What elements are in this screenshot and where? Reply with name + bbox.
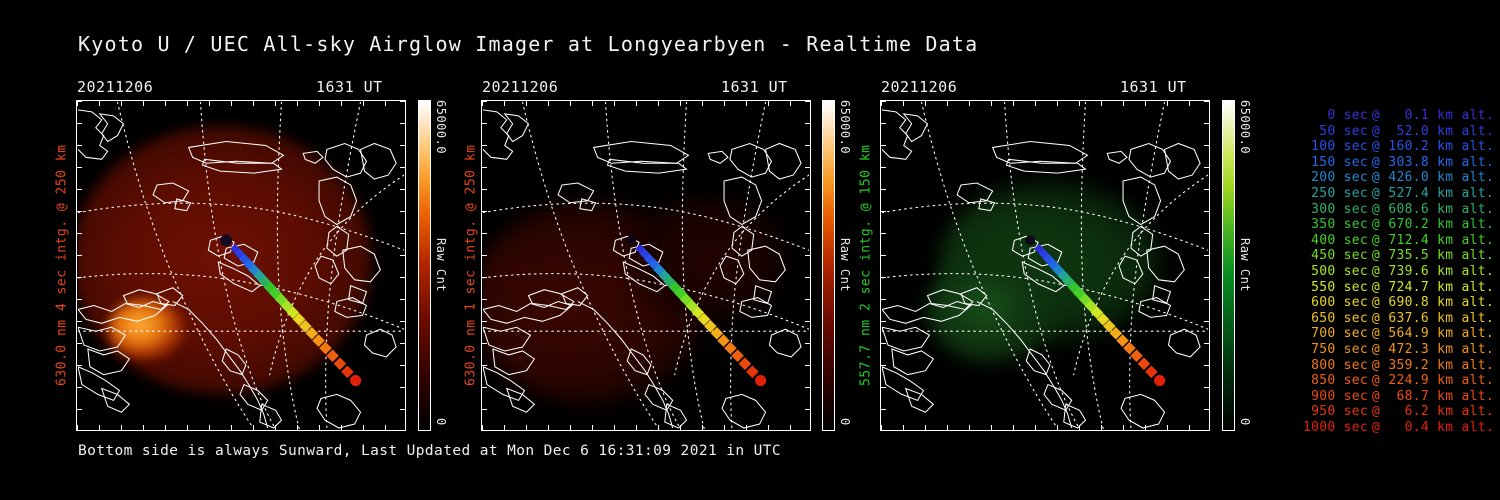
legend-altitude: 690.8 km alt. xyxy=(1384,295,1494,311)
legend-altitude: 712.4 km alt. xyxy=(1384,233,1494,249)
legend-time: 300 sec xyxy=(1276,202,1368,218)
legend-time: 50 sec xyxy=(1276,124,1368,140)
legend-altitude: 564.9 km alt. xyxy=(1384,326,1494,342)
legend-row: 600 sec@690.8 km alt. xyxy=(1262,295,1494,311)
legend-time: 0 sec xyxy=(1276,108,1368,124)
legend-altitude: 68.7 km alt. xyxy=(1384,389,1494,405)
legend-altitude: 735.5 km alt. xyxy=(1384,248,1494,264)
legend-row: 850 sec@224.9 km alt. xyxy=(1262,373,1494,389)
panel-2-header: 20211206 1631 UT xyxy=(481,78,811,98)
panel-1-time: 1631 UT xyxy=(316,78,383,96)
legend-altitude: 527.4 km alt. xyxy=(1384,186,1494,202)
legend-at-symbol: @ xyxy=(1368,233,1384,249)
legend-row: 500 sec@739.6 km alt. xyxy=(1262,264,1494,280)
legend-altitude: 724.7 km alt. xyxy=(1384,280,1494,296)
panel-2-colorbar-min: 0 xyxy=(838,418,852,500)
legend-altitude: 0.4 km alt. xyxy=(1384,420,1494,436)
panel-2-plot xyxy=(483,102,809,429)
legend-time: 700 sec xyxy=(1276,326,1368,342)
panel-1-colorbar-min: 0 xyxy=(434,418,448,500)
panel-3-colorbar[interactable] xyxy=(1222,100,1235,431)
legend-row: 700 sec@564.9 km alt. xyxy=(1262,326,1494,342)
legend-at-symbol: @ xyxy=(1368,420,1384,436)
legend-time: 400 sec xyxy=(1276,233,1368,249)
panel-1-bottom-ticks xyxy=(77,425,405,430)
panel-2-left-ticks xyxy=(482,101,487,430)
legend-row: 200 sec@426.0 km alt. xyxy=(1262,170,1494,186)
legend-row: 300 sec@608.6 km alt. xyxy=(1262,202,1494,218)
legend-time: 850 sec xyxy=(1276,373,1368,389)
panel-3-date: 20211206 xyxy=(881,78,957,96)
panel-2-top-ticks xyxy=(482,101,810,106)
legend-time: 900 sec xyxy=(1276,389,1368,405)
page-title: Kyoto U / UEC All-sky Airglow Imager at … xyxy=(78,32,978,56)
legend-altitude: 739.6 km alt. xyxy=(1384,264,1494,280)
panel-3-time: 1631 UT xyxy=(1120,78,1187,96)
legend-time: 350 sec xyxy=(1276,217,1368,233)
legend-at-symbol: @ xyxy=(1368,108,1384,124)
legend-altitude: 303.8 km alt. xyxy=(1384,155,1494,171)
panel-3-colorbar-min: 0 xyxy=(1238,418,1252,500)
legend-at-symbol: @ xyxy=(1368,311,1384,327)
legend-row: 750 sec@472.3 km alt. xyxy=(1262,342,1494,358)
panel-3-top-ticks xyxy=(881,101,1209,106)
legend-altitude: 359.2 km alt. xyxy=(1384,358,1494,374)
legend-time: 150 sec xyxy=(1276,155,1368,171)
legend-time: 750 sec xyxy=(1276,342,1368,358)
panel-1-frame xyxy=(76,100,406,431)
panel-3-map-overlay xyxy=(882,102,1208,429)
panel-1-left-ticks xyxy=(77,101,82,430)
legend-at-symbol: @ xyxy=(1368,280,1384,296)
legend-time: 550 sec xyxy=(1276,280,1368,296)
legend-row: 0 sec@0.1 km alt. xyxy=(1262,108,1494,124)
legend-at-symbol: @ xyxy=(1368,326,1384,342)
panel-2-map-overlay xyxy=(483,102,809,429)
panel-2-colorbar-max: 65000.0 xyxy=(838,100,852,154)
legend-row: 50 sec@52.0 km alt. xyxy=(1262,124,1494,140)
legend-row: 100 sec@160.2 km alt. xyxy=(1262,139,1494,155)
legend-row: 450 sec@735.5 km alt. xyxy=(1262,248,1494,264)
legend-at-symbol: @ xyxy=(1368,264,1384,280)
legend-at-symbol: @ xyxy=(1368,373,1384,389)
legend-at-symbol: @ xyxy=(1368,202,1384,218)
panel-1-rocket-trajectory xyxy=(220,234,361,386)
panel-3-bottom-ticks xyxy=(881,425,1209,430)
legend-time: 450 sec xyxy=(1276,248,1368,264)
legend-row: 150 sec@303.8 km alt. xyxy=(1262,155,1494,171)
panel-1-top-ticks xyxy=(77,101,405,106)
panel-2-frame xyxy=(481,100,811,431)
legend-altitude: 224.9 km alt. xyxy=(1384,373,1494,389)
legend-at-symbol: @ xyxy=(1368,186,1384,202)
legend-altitude: 670.2 km alt. xyxy=(1384,217,1494,233)
panel-2-rocket-trajectory xyxy=(626,235,766,386)
panel-3-side-label: 557.7 nm 2 sec intg. @ 150 km xyxy=(856,100,876,431)
panel-3-left-ticks xyxy=(881,101,886,430)
legend-altitude: 6.2 km alt. xyxy=(1384,404,1494,420)
legend-time: 100 sec xyxy=(1276,139,1368,155)
panel-1-date: 20211206 xyxy=(77,78,153,96)
legend-at-symbol: @ xyxy=(1368,358,1384,374)
legend-altitude: 608.6 km alt. xyxy=(1384,202,1494,218)
legend-at-symbol: @ xyxy=(1368,342,1384,358)
legend-at-symbol: @ xyxy=(1368,295,1384,311)
legend-row: 350 sec@670.2 km alt. xyxy=(1262,217,1494,233)
panel-2-bottom-ticks xyxy=(482,425,810,430)
legend-at-symbol: @ xyxy=(1368,389,1384,405)
panel-2-date: 20211206 xyxy=(482,78,558,96)
legend-at-symbol: @ xyxy=(1368,155,1384,171)
panel-630nm-1sec[interactable]: 20211206 1631 UT xyxy=(481,100,811,431)
legend-altitude: 426.0 km alt. xyxy=(1384,170,1494,186)
legend-altitude: 52.0 km alt. xyxy=(1384,124,1494,140)
legend-row: 650 sec@637.6 km alt. xyxy=(1262,311,1494,327)
panel-1-colorbar-max: 65000.0 xyxy=(434,100,448,154)
panel-3-header: 20211206 1631 UT xyxy=(880,78,1210,98)
panel-3-plot xyxy=(882,102,1208,429)
legend-time: 200 sec xyxy=(1276,170,1368,186)
legend-row: 400 sec@712.4 km alt. xyxy=(1262,233,1494,249)
panel-2-side-label: 630.0 nm 1 sec intg. @ 250 km xyxy=(461,100,481,431)
legend-time: 250 sec xyxy=(1276,186,1368,202)
panel-3-colorbar-max: 65000.0 xyxy=(1238,100,1252,154)
legend-row: 900 sec@68.7 km alt. xyxy=(1262,389,1494,405)
legend-at-symbol: @ xyxy=(1368,217,1384,233)
legend-time: 600 sec xyxy=(1276,295,1368,311)
legend-at-symbol: @ xyxy=(1368,139,1384,155)
trajectory-altitude-legend: 0 sec@0.1 km alt.50 sec@52.0 km alt.100 … xyxy=(1262,108,1494,435)
panel-2-time: 1631 UT xyxy=(721,78,788,96)
footer-caption: Bottom side is always Sunward, Last Upda… xyxy=(78,443,781,459)
legend-altitude: 472.3 km alt. xyxy=(1384,342,1494,358)
panel-3-right-ticks xyxy=(1204,101,1209,430)
panel-3-colorbar-unit: Raw Cnt xyxy=(1238,238,1252,292)
panel-2-colorbar-unit: Raw Cnt xyxy=(838,238,852,292)
legend-altitude: 637.6 km alt. xyxy=(1384,311,1494,327)
allsky-imager-page: Kyoto U / UEC All-sky Airglow Imager at … xyxy=(0,0,1500,500)
legend-time: 950 sec xyxy=(1276,404,1368,420)
legend-at-symbol: @ xyxy=(1368,124,1384,140)
panel-1-colorbar-unit: Raw Cnt xyxy=(434,238,448,292)
panel-1-plot xyxy=(78,102,404,429)
panel-1-side-label: 630.0 nm 4 sec intg. @ 250 km xyxy=(52,100,72,431)
panel-1-map-overlay xyxy=(78,102,404,429)
panel-3-rocket-trajectory xyxy=(1025,235,1165,386)
legend-time: 800 sec xyxy=(1276,358,1368,374)
legend-at-symbol: @ xyxy=(1368,248,1384,264)
panel-1-right-ticks xyxy=(400,101,405,430)
legend-row: 950 sec@6.2 km alt. xyxy=(1262,404,1494,420)
panel-3-frame xyxy=(880,100,1210,431)
panel-1-colorbar[interactable] xyxy=(418,100,431,431)
legend-altitude: 0.1 km alt. xyxy=(1384,108,1494,124)
panel-630nm-4sec[interactable]: 20211206 1631 UT xyxy=(76,100,406,431)
legend-at-symbol: @ xyxy=(1368,170,1384,186)
legend-row: 250 sec@527.4 km alt. xyxy=(1262,186,1494,202)
legend-time: 1000 sec xyxy=(1276,420,1368,436)
legend-row: 550 sec@724.7 km alt. xyxy=(1262,280,1494,296)
panel-2-colorbar[interactable] xyxy=(822,100,835,431)
panel-1-header: 20211206 1631 UT xyxy=(76,78,406,98)
panel-557nm-2sec[interactable]: 20211206 1631 UT xyxy=(880,100,1210,431)
panel-2-right-ticks xyxy=(805,101,810,430)
legend-time: 650 sec xyxy=(1276,311,1368,327)
legend-at-symbol: @ xyxy=(1368,404,1384,420)
legend-row: 800 sec@359.2 km alt. xyxy=(1262,358,1494,374)
legend-row: 1000 sec@0.4 km alt. xyxy=(1262,420,1494,436)
legend-time: 500 sec xyxy=(1276,264,1368,280)
legend-altitude: 160.2 km alt. xyxy=(1384,139,1494,155)
